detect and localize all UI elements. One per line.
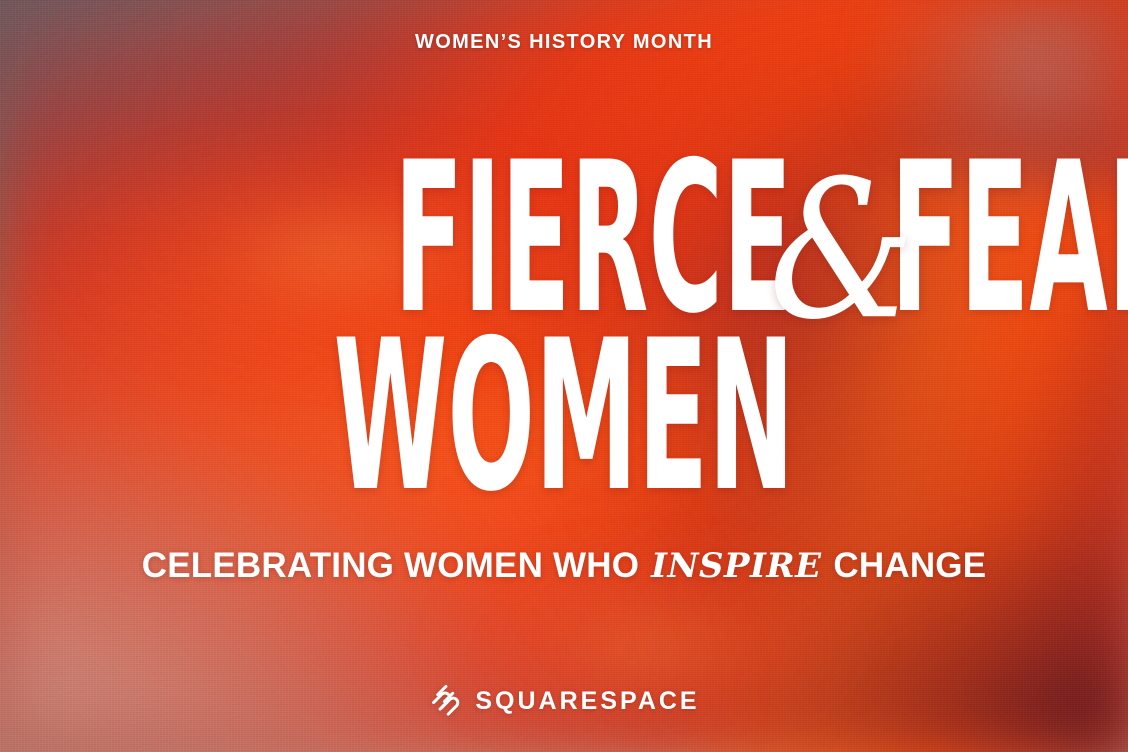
- headline-word-women: WOMEN: [334, 296, 795, 538]
- subtitle-text-before: CELEBRATING WOMEN WHO: [142, 546, 649, 585]
- squarespace-wordmark: SQUARESPACE: [475, 689, 699, 714]
- poster-content: WOMEN’S HISTORY MONTH FIERCE&FEARLESS WO…: [0, 0, 1128, 752]
- subtitle-text-after: CHANGE: [823, 546, 986, 585]
- headline-line-2-inner: WOMEN: [334, 330, 795, 505]
- squarespace-logo-icon: [428, 684, 462, 718]
- headline-line-2: WOMEN: [0, 330, 1128, 495]
- headline-word-fearless: FEARLESS: [891, 118, 1128, 360]
- subtitle: CELEBRATING WOMEN WHO INSPIRE CHANGE: [0, 548, 1128, 584]
- eyebrow-label: WOMEN’S HISTORY MONTH: [0, 32, 1128, 52]
- promotional-poster: WOMEN’S HISTORY MONTH FIERCE&FEARLESS WO…: [0, 0, 1128, 752]
- subtitle-emphasis-inspire: INSPIRE: [649, 546, 823, 586]
- squarespace-brand-lockup: SQUARESPACE: [0, 684, 1128, 718]
